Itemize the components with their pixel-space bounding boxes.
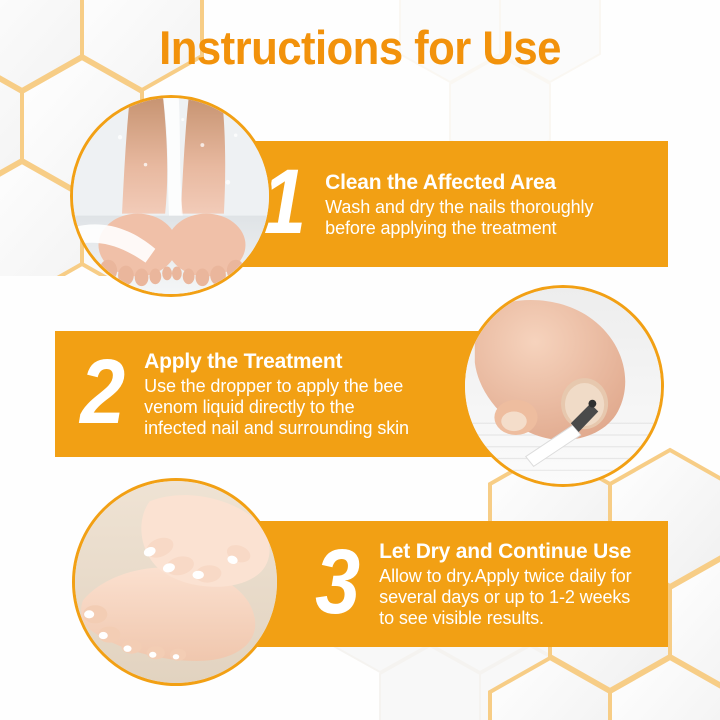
step-2-body: Use the dropper to apply the bee venom l… xyxy=(144,376,409,439)
step-1-body: Wash and dry the nails thoroughly before… xyxy=(325,197,593,239)
instructions-poster: Instructions for Use 1 Clean the Affecte… xyxy=(0,0,720,720)
step-1-body-line-2: before applying the treatment xyxy=(325,218,593,239)
step-2-photo xyxy=(462,285,664,487)
page-title: Instructions for Use xyxy=(25,20,695,76)
step-3-body-line-3: to see visible results. xyxy=(379,608,631,629)
applying-treatment-image xyxy=(465,288,661,484)
step-3-body: Allow to dry.Apply twice daily for sever… xyxy=(379,566,631,629)
step-3-title: Let Dry and Continue Use xyxy=(379,539,631,564)
step-2-body-line-2: venom liquid directly to the xyxy=(144,397,409,418)
step-2-body-line-3: infected nail and surrounding skin xyxy=(144,418,409,439)
step-1-title: Clean the Affected Area xyxy=(325,170,593,195)
step-1-photo xyxy=(70,95,272,297)
step-2-title: Apply the Treatment xyxy=(144,349,409,374)
step-2-number: 2 xyxy=(80,346,125,438)
dry-nails-image xyxy=(75,481,277,683)
step-3-text: Let Dry and Continue Use Allow to dry.Ap… xyxy=(379,539,631,629)
step-2-text: Apply the Treatment Use the dropper to a… xyxy=(144,349,409,439)
step-3-body-line-1: Allow to dry.Apply twice daily for xyxy=(379,566,631,587)
step-3-body-line-2: several days or up to 1-2 weeks xyxy=(379,587,631,608)
step-2-body-line-1: Use the dropper to apply the bee xyxy=(144,376,409,397)
step-3-number: 3 xyxy=(315,536,360,628)
step-3-banner: 3 Let Dry and Continue Use Allow to dry.… xyxy=(256,521,668,647)
step-3-photo xyxy=(72,478,280,686)
step-1-text: Clean the Affected Area Wash and dry the… xyxy=(325,170,593,239)
step-1-body-line-1: Wash and dry the nails thoroughly xyxy=(325,197,593,218)
feet-washing-image xyxy=(73,98,269,294)
